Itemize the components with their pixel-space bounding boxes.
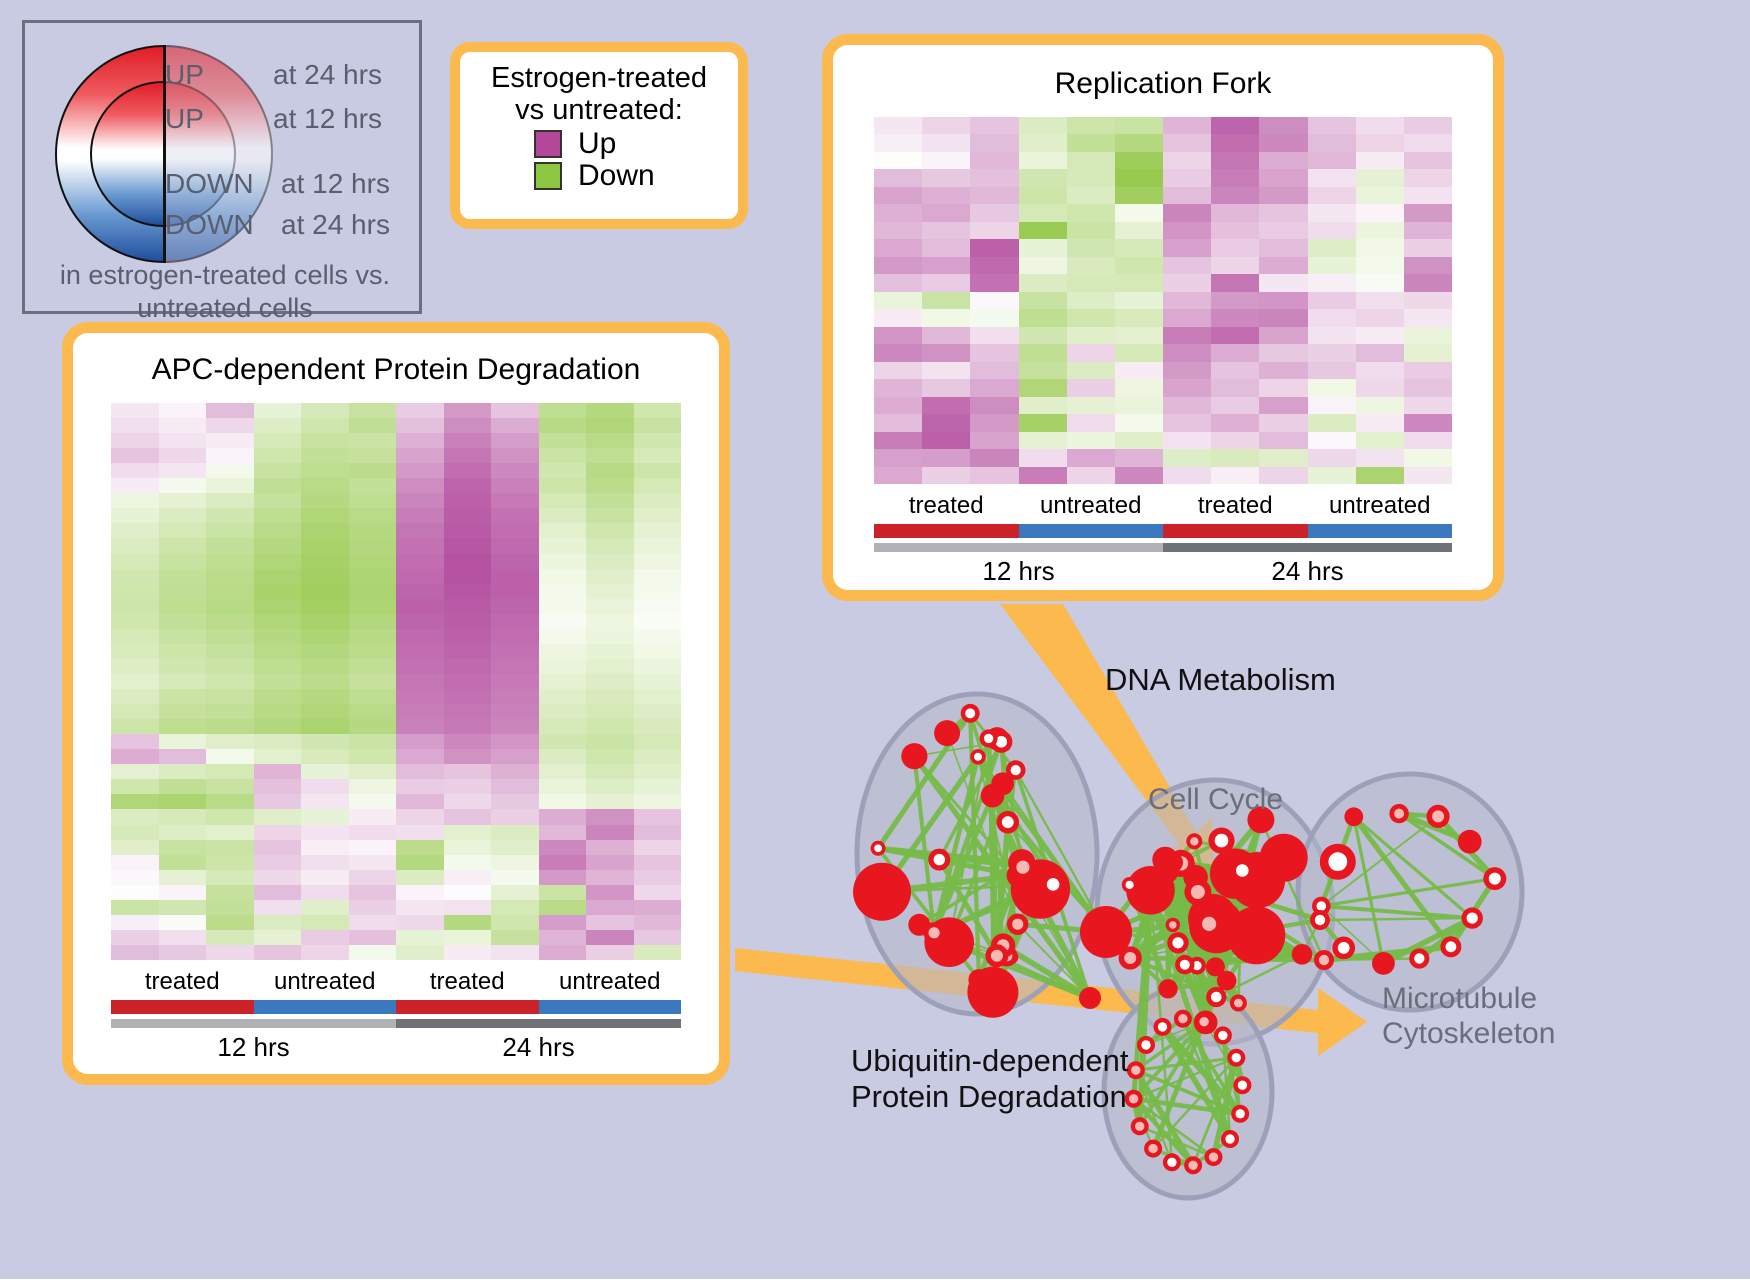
heatmap-cell [1356,309,1404,326]
heatmap-cell [970,257,1018,274]
heatmap-cell [970,309,1018,326]
heatmap-cell [1259,292,1307,309]
network-node[interactable] [1233,1076,1251,1094]
network-node[interactable] [1227,1049,1245,1067]
heatmap-cell [586,704,634,719]
heatmap-cell [1308,379,1356,396]
heatmap-cell [206,719,254,734]
heatmap-cell [206,915,254,930]
heatmap-cell [254,508,302,523]
network-node[interactable] [997,811,1020,834]
treatment-color-bar-segment [1019,524,1164,538]
heatmap-cell [254,945,302,960]
heatmap-cell [1356,117,1404,134]
heatmap-cell [159,569,207,584]
heatmap-cell [349,809,397,824]
heatmap-cell [970,344,1018,361]
heatmap-cell [444,689,492,704]
network-node[interactable] [1221,1130,1239,1148]
heatmap-cell [970,274,1018,291]
heatmap-cell [586,614,634,629]
heatmap-cell [634,674,682,689]
column-group-label: untreated [1308,492,1453,520]
heatmap-cell [111,870,159,885]
heatmap-cell [444,629,492,644]
heatmap-cell [586,749,634,764]
network-edge [1324,959,1419,961]
heatmap-cell [301,659,349,674]
heatmap-cell [206,538,254,553]
heatmap-cell [1308,414,1356,431]
network-node[interactable] [1208,828,1234,854]
network-node[interactable] [1154,1018,1172,1036]
heatmap-cell [1115,467,1163,484]
heatmap-cell [111,809,159,824]
network-node-core [1234,999,1243,1008]
heatmap-cell [491,794,539,809]
heatmap-cell [922,257,970,274]
column-group-label: treated [874,492,1019,520]
heatmap-cell [1308,187,1356,204]
network-node[interactable] [901,743,927,769]
heatmap-cell [970,379,1018,396]
network-node[interactable] [1483,867,1506,890]
heatmap-cell [539,870,587,885]
network-node[interactable] [1175,955,1194,974]
treatment-color-bar-segment [111,1000,254,1014]
network-node[interactable] [1163,852,1183,872]
network-node[interactable] [1320,844,1356,880]
heatmap-cell [206,523,254,538]
down-color-swatch [534,162,562,190]
heatmap-cell [970,187,1018,204]
network-node-core [874,844,882,852]
heatmap-cell [444,418,492,433]
heatmap-cell [111,508,159,523]
heatmap-cell [396,689,444,704]
heatmap-cell [1115,397,1163,414]
network-node[interactable] [1462,907,1483,928]
heatmap-cell [1163,467,1211,484]
heatmap-cell [1259,309,1307,326]
heatmap-cell [586,448,634,463]
network-node[interactable] [1174,1010,1192,1028]
network-node[interactable] [1314,950,1334,970]
heatmap-cell [1259,362,1307,379]
heatmap-cell [874,292,922,309]
heatmap-cell [539,779,587,794]
heatmap-cell [111,734,159,749]
heatmap-cell [349,945,397,960]
network-node-core [1129,1094,1138,1103]
heatmap-cell [396,930,444,945]
heatmap-cell [586,554,634,569]
network-node[interactable] [1079,987,1101,1009]
network-node-core [991,950,1003,962]
heatmap-cell [491,614,539,629]
heatmap-cell [254,809,302,824]
heatmap-cell [444,900,492,915]
network-node[interactable] [1184,879,1211,906]
heatmap-cell [254,915,302,930]
heatmap-cell [1308,309,1356,326]
heatmap-cell [206,433,254,448]
heatmap-cell [349,448,397,463]
heatmap-cell [1404,449,1452,466]
heatmap-cell [586,538,634,553]
heatmap-cell [1308,449,1356,466]
heatmap-cell [301,945,349,960]
heatmap-cell [1259,239,1307,256]
heatmap-cell [301,855,349,870]
network-node[interactable] [1344,807,1363,826]
heatmap-cell [444,584,492,599]
heatmap-cell [159,584,207,599]
heatmap-cell [1163,134,1211,151]
column-group-label: treated [111,968,254,996]
heatmap-cell [396,885,444,900]
legend-direction-up-12: UP [165,103,204,135]
network-node[interactable] [1409,948,1429,968]
heatmap-cell [539,855,587,870]
heatmap-cell [159,629,207,644]
heatmap-cell [874,222,922,239]
heatmap-cell [206,885,254,900]
network-node[interactable] [1195,1013,1213,1031]
heatmap-cell [634,478,682,493]
heatmap-cell [634,840,682,855]
apc-degradation-panel: APC-dependent Protein Degradation treate… [62,322,730,1085]
network-node[interactable] [1184,1156,1202,1174]
network-node-core [1172,937,1183,948]
heatmap-cell [396,945,444,960]
heatmap-cell [159,764,207,779]
network-node[interactable] [1006,760,1026,780]
heatmap-cell [1019,204,1067,221]
heatmap-cell [922,397,970,414]
heatmap-cell [206,418,254,433]
heatmap-cell [539,915,587,930]
network-node[interactable] [1332,937,1355,960]
heatmap-cell [1356,467,1404,484]
heatmap-cell [159,915,207,930]
heatmap-cell [874,239,922,256]
heatmap-cell [396,674,444,689]
heatmap-cell [111,855,159,870]
heatmap-cell [301,900,349,915]
heatmap-cell [396,825,444,840]
heatmap-cell [922,309,970,326]
heatmap-cell [1163,274,1211,291]
heatmap-cell [206,478,254,493]
heatmap-cell [444,554,492,569]
heatmap-cell [634,644,682,659]
heatmap-cell [111,764,159,779]
heatmap-cell [301,538,349,553]
heatmap-cell [349,855,397,870]
network-node-core [1190,837,1198,845]
heatmap-cell [206,599,254,614]
network-node[interactable] [1230,859,1254,883]
heatmap-cell [206,704,254,719]
heatmap-cell [1115,169,1163,186]
heatmap-cell [970,327,1018,344]
replication-fork-timepoint-bar [874,543,1452,552]
network-node[interactable] [1137,1036,1155,1054]
heatmap-cell [970,239,1018,256]
network-node[interactable] [934,720,960,746]
heatmap-cell [1404,379,1452,396]
network-node[interactable] [967,967,1018,1018]
network-node[interactable] [871,841,886,856]
heatmap-cell [444,674,492,689]
heatmap-cell [349,463,397,478]
heatmap-cell [206,584,254,599]
heatmap-cell [254,900,302,915]
heatmap-cell [349,915,397,930]
heatmap-cell [491,508,539,523]
network-node[interactable] [928,849,950,871]
heatmap-cell [634,448,682,463]
heatmap-cell [539,523,587,538]
heatmap-cell [1115,134,1163,151]
heatmap-cell [111,674,159,689]
network-node[interactable] [1206,987,1226,1007]
heatmap-cell [1404,239,1452,256]
heatmap-cell [111,885,159,900]
heatmap-cell [1308,152,1356,169]
network-node[interactable] [1372,952,1395,975]
heatmap-cell [396,418,444,433]
heatmap-cell [1163,309,1211,326]
heatmap-cell [396,855,444,870]
network-node[interactable] [1389,804,1408,823]
heatmap-cell [491,418,539,433]
heatmap-cell [1308,467,1356,484]
heatmap-cell [396,538,444,553]
network-node[interactable] [981,784,1005,808]
heatmap-cell [874,309,922,326]
network-node[interactable] [961,704,980,723]
heatmap-cell [634,599,682,614]
heatmap-cell [1404,362,1452,379]
expression-direction-legend: UP at 24 hrs UP at 12 hrs DOWN at 12 hrs… [22,20,422,314]
heatmap-cell [491,403,539,418]
heatmap-cell [1067,467,1115,484]
heatmap-cell [349,900,397,915]
heatmap-cell [1259,152,1307,169]
heatmap-cell [874,432,922,449]
heatmap-cell [254,599,302,614]
heatmap-cell [254,448,302,463]
heatmap-cell [1067,187,1115,204]
heatmap-cell [1356,222,1404,239]
heatmap-cell [1404,309,1452,326]
heatmap-cell [159,523,207,538]
heatmap-cell [444,870,492,885]
heatmap-cell [1211,117,1259,134]
heatmap-cell [1404,187,1452,204]
network-node[interactable] [1214,1026,1232,1044]
network-node[interactable] [1144,1140,1162,1158]
heatmap-cell [111,749,159,764]
heatmap-cell [349,719,397,734]
pathway-network [790,620,1750,1280]
network-node[interactable] [985,944,1008,967]
network-node-core [1238,1081,1247,1090]
heatmap-cell [206,569,254,584]
network-node[interactable] [1458,830,1482,854]
network-node[interactable] [1292,944,1313,965]
heatmap-cell [1163,257,1211,274]
down-label: Down [578,161,655,191]
heatmap-cell [634,779,682,794]
network-node[interactable] [1080,906,1132,958]
heatmap-cell [1067,222,1115,239]
heatmap-cell [396,584,444,599]
heatmap-cell [1019,397,1067,414]
heatmap-cell [586,900,634,915]
network-node[interactable] [1427,805,1450,828]
network-node[interactable] [1195,910,1222,937]
heatmap-cell [396,900,444,915]
network-node-core [1180,960,1190,970]
heatmap-cell [1308,204,1356,221]
heatmap-cell [444,794,492,809]
network-node-core [1317,901,1327,911]
heatmap-cell [539,825,587,840]
heatmap-cell [1115,309,1163,326]
heatmap-cell [586,569,634,584]
heatmap-cell [539,554,587,569]
network-node[interactable] [1158,979,1177,998]
heatmap-cell [1067,257,1115,274]
network-node[interactable] [1010,854,1036,880]
heatmap-cell [1067,344,1115,361]
network-node[interactable] [853,863,911,921]
heatmap-cell [1163,117,1211,134]
heatmap-cell [874,379,922,396]
heatmap-cell [349,508,397,523]
heatmap-cell [586,403,634,418]
heatmap-cell [1356,187,1404,204]
heatmap-cell [1404,292,1452,309]
heatmap-cell [1115,432,1163,449]
heatmap-cell [634,855,682,870]
heatmap-cell [396,463,444,478]
heatmap-cell [922,467,970,484]
heatmap-cell [396,764,444,779]
network-node[interactable] [1007,914,1028,935]
heatmap-cell [1211,379,1259,396]
heatmap-cell [111,418,159,433]
heatmap-cell [254,734,302,749]
heatmap-cell [539,644,587,659]
heatmap-cell [586,885,634,900]
heatmap-cell [254,689,302,704]
heatmap-cell [254,629,302,644]
heatmap-cell [539,478,587,493]
network-node-core [1167,1158,1176,1167]
heatmap-cell [1308,362,1356,379]
heatmap-cell [444,538,492,553]
network-node-core [1394,809,1404,819]
network-node[interactable] [1310,910,1330,930]
heatmap-cell [874,187,922,204]
heatmap-cell [1019,152,1067,169]
heatmap-cell [874,327,922,344]
network-node[interactable] [980,729,998,747]
network-node[interactable] [1122,877,1138,893]
heatmap-cell [349,749,397,764]
heatmap-cell [444,448,492,463]
treatment-color-bar-segment [396,1000,539,1014]
network-node[interactable] [1186,833,1202,849]
heatmap-cell [254,433,302,448]
column-group-label: treated [1163,492,1308,520]
heatmap-cell [922,134,970,151]
heatmap-cell [111,659,159,674]
heatmap-cell [206,674,254,689]
network-node-core [1002,816,1014,828]
network-node[interactable] [1127,1061,1145,1079]
heatmap-cell [301,599,349,614]
network-node[interactable] [1131,1117,1149,1135]
heatmap-cell [396,478,444,493]
heatmap-cell [1211,292,1259,309]
heatmap-cell [206,448,254,463]
network-node[interactable] [1230,995,1247,1012]
heatmap-cell [1404,467,1452,484]
heatmap-cell [539,689,587,704]
heatmap-cell [970,432,1018,449]
network-node[interactable] [1166,918,1180,932]
heatmap-cell [254,840,302,855]
heatmap-cell [1308,257,1356,274]
network-node-core [1012,919,1023,930]
heatmap-cell [301,403,349,418]
heatmap-cell [539,569,587,584]
network-node[interactable] [1163,1153,1181,1171]
network-node[interactable] [1205,1148,1223,1166]
heatmap-cell [1356,134,1404,151]
apc-time-labels: 12 hrs24 hrs [111,1032,681,1063]
heatmap-cell [206,493,254,508]
network-node[interactable] [923,922,944,943]
cluster-label-ubiquitin-dependent-protein-degradation: Ubiquitin-dependent Protein Degradation [851,1043,1129,1114]
heatmap-cell [444,463,492,478]
network-node[interactable] [1440,936,1461,957]
heatmap-cell [539,704,587,719]
heatmap-cell [301,523,349,538]
network-node-core [1131,1066,1140,1075]
heatmap-cell [206,870,254,885]
network-node[interactable] [970,749,985,764]
heatmap-cell [1211,432,1259,449]
heatmap-cell [254,493,302,508]
heatmap-cell [444,403,492,418]
heatmap-cell [396,614,444,629]
network-node[interactable] [1231,1105,1249,1123]
network-node[interactable] [1167,932,1188,953]
network-node[interactable] [1041,872,1065,896]
heatmap-cell [539,584,587,599]
heatmap-cell [159,885,207,900]
heatmap-cell [634,569,682,584]
heatmap-cell [1067,204,1115,221]
key-title-line1: Estrogen-treated [460,62,738,94]
heatmap-cell [491,825,539,840]
